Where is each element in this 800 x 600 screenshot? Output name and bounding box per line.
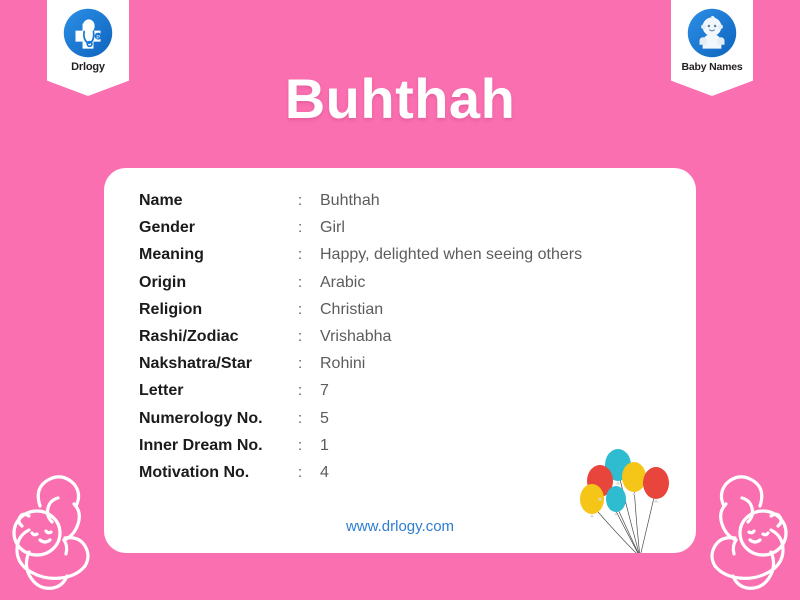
table-row: Origin : Arabic — [139, 274, 679, 301]
row-separator: : — [298, 437, 320, 454]
row-separator: : — [298, 246, 320, 263]
row-value: Arabic — [320, 274, 365, 292]
table-row: Letter : 7 — [139, 382, 679, 409]
name-details-card: Name : Buhthah Gender : Girl Meaning : H… — [104, 168, 696, 553]
row-label: Nakshatra/Star — [139, 355, 298, 373]
row-label: Meaning — [139, 246, 298, 264]
row-value: 7 — [320, 382, 329, 400]
name-details-table: Name : Buhthah Gender : Girl Meaning : H… — [139, 192, 679, 491]
baby-icon — [687, 8, 737, 58]
table-row: Nakshatra/Star : Rohini — [139, 355, 679, 382]
mother-and-baby-icon — [0, 460, 104, 600]
row-separator: : — [298, 328, 320, 345]
row-value: 5 — [320, 410, 329, 428]
row-separator: : — [298, 274, 320, 291]
row-label: Letter — [139, 382, 298, 400]
drlogy-medical-cross-icon: P — [63, 8, 113, 58]
table-row: Numerology No. : 5 — [139, 410, 679, 437]
row-label: Rashi/Zodiac — [139, 328, 298, 346]
row-separator: : — [298, 192, 320, 209]
row-label: Numerology No. — [139, 410, 298, 428]
row-separator: : — [298, 382, 320, 399]
table-row: Name : Buhthah — [139, 192, 679, 219]
website-url-link[interactable]: www.drlogy.com — [104, 518, 696, 535]
row-value: Christian — [320, 301, 383, 319]
page-title: Buhthah — [0, 66, 800, 131]
table-row: Gender : Girl — [139, 219, 679, 246]
table-row: Meaning : Happy, delighted when seeing o… — [139, 246, 679, 273]
row-separator: : — [298, 219, 320, 236]
row-separator: : — [298, 410, 320, 427]
row-separator: : — [298, 355, 320, 372]
row-value: Happy, delighted when seeing others — [320, 246, 582, 264]
row-label: Religion — [139, 301, 298, 319]
row-label: Gender — [139, 219, 298, 237]
table-row: Inner Dream No. : 1 — [139, 437, 679, 464]
row-label: Motivation No. — [139, 464, 298, 482]
row-value: Vrishabha — [320, 328, 391, 346]
row-label: Inner Dream No. — [139, 437, 298, 455]
table-row: Rashi/Zodiac : Vrishabha — [139, 328, 679, 355]
row-value: 4 — [320, 464, 329, 482]
row-value: Girl — [320, 219, 345, 237]
mother-and-baby-icon — [696, 460, 800, 600]
row-separator: : — [298, 464, 320, 481]
row-separator: : — [298, 301, 320, 318]
row-value: Buhthah — [320, 192, 380, 210]
row-label: Name — [139, 192, 298, 210]
row-value: 1 — [320, 437, 329, 455]
row-value: Rohini — [320, 355, 365, 373]
svg-text:P: P — [96, 35, 100, 41]
table-row: Religion : Christian — [139, 301, 679, 328]
row-label: Origin — [139, 274, 298, 292]
table-row: Motivation No. : 4 — [139, 464, 679, 491]
